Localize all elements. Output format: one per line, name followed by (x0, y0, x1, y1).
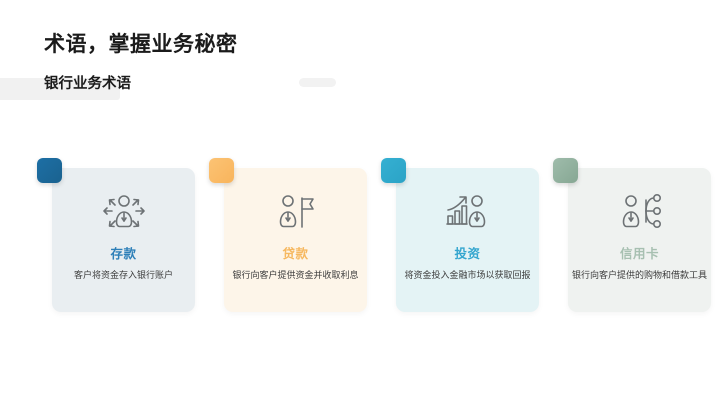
term-card-list: 存款 客户将资金存入银行账户 贷款 银行向客户提供资金并收取利息 (0, 0, 720, 404)
card-accent-square-credit-card (553, 158, 578, 183)
person-with-arrows-icon (52, 184, 195, 238)
card-term-investment: 投资 (396, 243, 539, 262)
slide-canvas: 术语，掌握业务秘密 银行业务术语 存款 客户将资金存入银行账户 (0, 0, 720, 404)
card-accent-square-deposit (37, 158, 62, 183)
card-accent-square-investment (381, 158, 406, 183)
card-description-credit-card: 银行向客户提供的购物和借款工具 (532, 269, 720, 282)
card-term-deposit: 存款 (52, 243, 195, 262)
card-term-credit-card: 信用卡 (568, 243, 711, 262)
growth-chart-person-icon (396, 184, 539, 238)
person-network-nodes-icon (568, 184, 711, 238)
card-accent-square-loan (209, 158, 234, 183)
card-term-loan: 贷款 (224, 243, 367, 262)
person-with-flag-icon (224, 184, 367, 238)
